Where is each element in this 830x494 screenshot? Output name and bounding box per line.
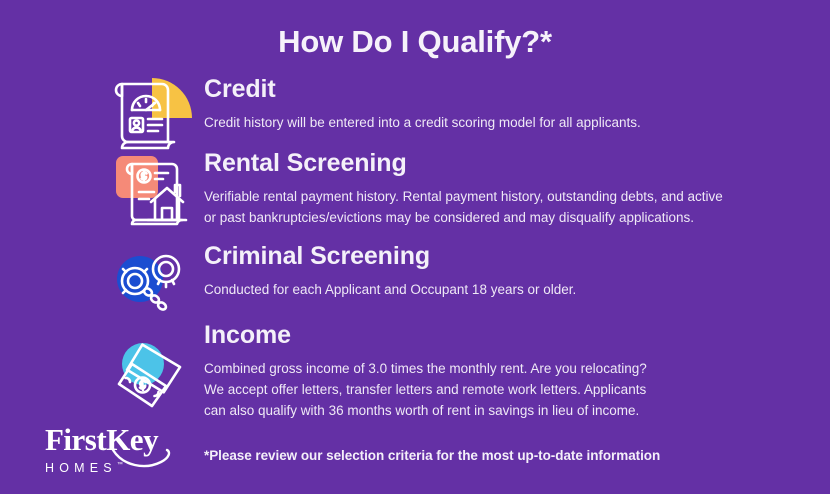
- section-heading-rental-screening: Rental Screening: [204, 150, 810, 178]
- section-heading-credit: Credit: [204, 76, 810, 104]
- section-heading-criminal-screening: Criminal Screening: [204, 243, 810, 271]
- firstkey-homes-logo: FirstKey HOMES ™: [45, 424, 205, 477]
- logo-wordmark: FirstKey: [45, 424, 158, 455]
- section-rental-screening: Rental Screening Verifiable rental payme…: [110, 150, 810, 228]
- section-text-rental-line-1: Verifiable rental payment history. Renta…: [204, 186, 729, 207]
- qualification-info-slide: How Do I Qualify?*: [0, 0, 830, 494]
- handcuffs-icon: [110, 243, 194, 321]
- trademark-symbol: ™: [117, 462, 123, 468]
- rent-invoice-house-icon: [110, 150, 194, 228]
- logo-subtext-label: HOMES: [45, 461, 117, 475]
- section-text-rental-line-2: or past bankruptcies/evictions may be co…: [204, 207, 729, 228]
- section-credit: Credit Credit history will be entered in…: [110, 76, 810, 133]
- logo-subtext: HOMES ™: [45, 461, 117, 475]
- section-text-income-line-2: We accept offer letters, transfer letter…: [204, 379, 729, 400]
- section-criminal-screening: Criminal Screening Conducted for each Ap…: [110, 243, 810, 300]
- page-title: How Do I Qualify?*: [0, 24, 830, 60]
- section-text-credit-line-1: Credit history will be entered into a cr…: [204, 112, 724, 133]
- footnote-selection-criteria: *Please review our selection criteria fo…: [204, 448, 660, 463]
- banknotes-dollar-icon: [110, 322, 194, 400]
- credit-report-gauge-icon: [110, 76, 194, 154]
- section-income: Income Combined gross income of 3.0 time…: [110, 322, 810, 421]
- section-text-income-line-1: Combined gross income of 3.0 times the m…: [204, 358, 729, 379]
- section-heading-income: Income: [204, 322, 810, 350]
- section-text-income-line-3: can also qualify with 36 months worth of…: [204, 400, 729, 421]
- section-text-criminal-line-1: Conducted for each Applicant and Occupan…: [204, 279, 724, 300]
